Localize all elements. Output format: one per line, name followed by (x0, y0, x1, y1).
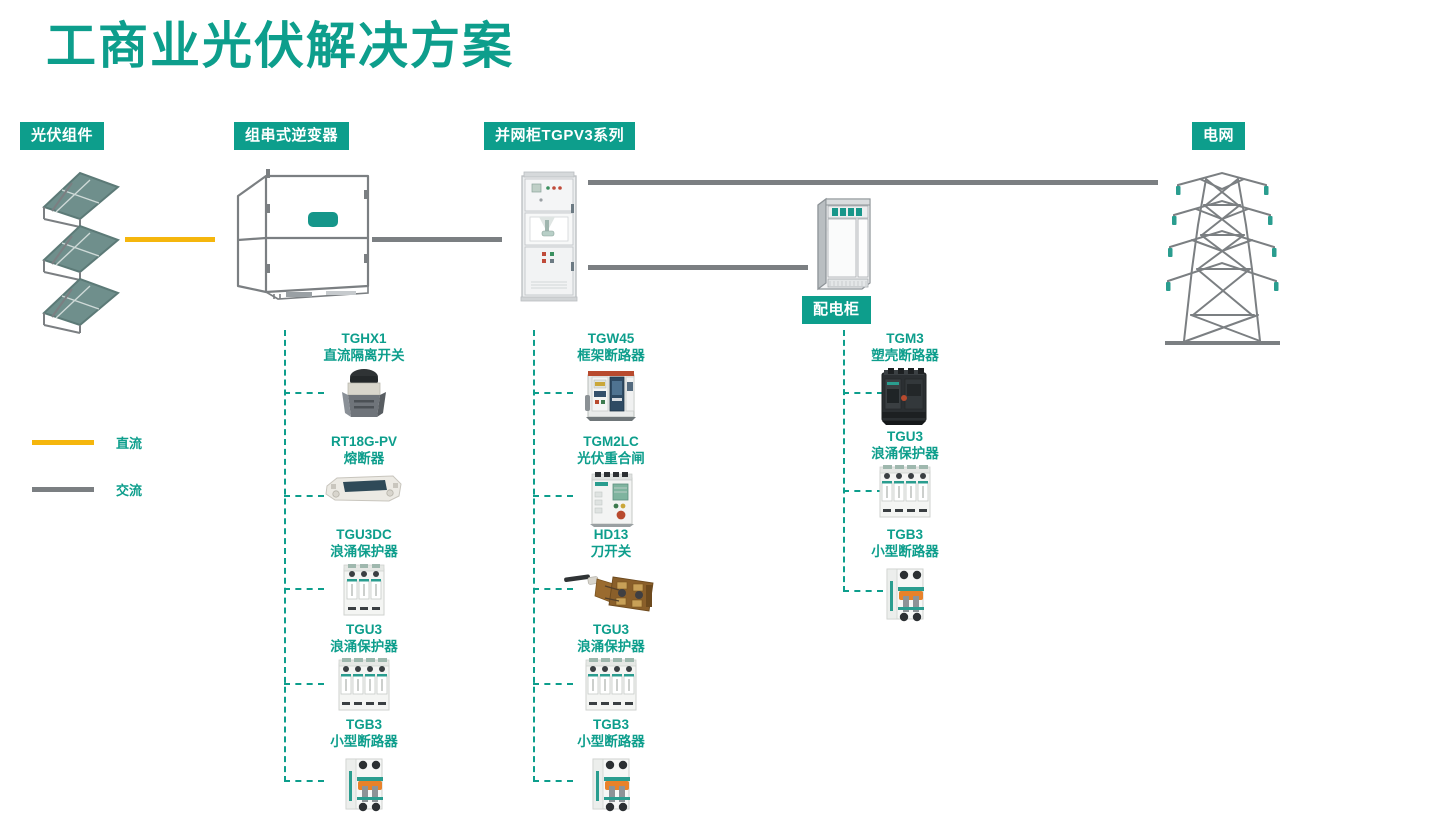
part-name: 小型断路器 (527, 733, 695, 750)
part-code: TGM3 (821, 330, 989, 347)
part-code: TGW45 (527, 330, 695, 347)
branch-inverter-parts: TGHX1 直流隔离开关 RT18G-PV 熔断器 (284, 330, 474, 820)
part-item[interactable]: HD13 刀开关 (527, 526, 695, 617)
part-name: 熔断器 (280, 450, 448, 467)
surge-protector-4p-icon (280, 658, 448, 714)
air-circuit-breaker-icon (527, 367, 695, 423)
part-name: 小型断路器 (280, 733, 448, 750)
part-code: HD13 (527, 526, 695, 543)
part-item[interactable]: TGB3 小型断路器 (280, 716, 448, 815)
part-item[interactable]: TGHX1 直流隔离开关 (280, 330, 448, 423)
moulded-case-circuit-breaker-icon (821, 367, 989, 427)
part-code: TGU3 (527, 621, 695, 638)
page-title: 工商业光伏解决方案 (46, 18, 514, 76)
part-code: TGU3 (280, 621, 448, 638)
fuse-holder-icon (280, 470, 448, 504)
part-name: 小型断路器 (821, 543, 989, 560)
auto-recloser-icon (527, 470, 695, 528)
part-name: 塑壳断路器 (821, 347, 989, 364)
grid-connection-cabinet-icon (521, 170, 577, 302)
part-item[interactable]: RT18G-PV 熔断器 (280, 433, 448, 504)
stage-chip-pv-modules: 光伏组件 (20, 122, 104, 150)
legend-item-dc: 直流 (32, 433, 142, 452)
part-name: 框架断路器 (527, 347, 695, 364)
branch-distribution-cabinet-parts: TGM3 塑壳断路器 (843, 330, 1033, 630)
part-name: 浪涌保护器 (821, 445, 989, 462)
dc-isolator-switch-icon (280, 367, 448, 423)
branch-grid-cabinet-parts: TGW45 框架断路器 (533, 330, 723, 820)
stage-chip-distribution-cabinet: 配电柜 (802, 296, 871, 324)
part-item[interactable]: TGM2LC 光伏重合闸 (527, 433, 695, 528)
part-item[interactable]: TGB3 小型断路器 (527, 716, 695, 815)
part-item[interactable]: TGU3 浪涌保护器 (527, 621, 695, 714)
ac-flow-line-grid-cabinet-to-distribution (588, 265, 808, 270)
legend-swatch-ac-icon (32, 487, 94, 492)
part-name: 刀开关 (527, 543, 695, 560)
part-code: TGU3 (821, 428, 989, 445)
diagram-canvas: 工商业光伏解决方案 光伏组件 组串式逆变器 并网柜TGPV3系列 配电柜 电网 … (0, 0, 1436, 829)
string-inverter-icon (230, 168, 375, 303)
part-item[interactable]: TGM3 塑壳断路器 (821, 330, 989, 427)
part-name: 光伏重合闸 (527, 450, 695, 467)
miniature-circuit-breaker-icon (280, 753, 448, 815)
part-item[interactable]: TGU3 浪涌保护器 (280, 621, 448, 714)
part-name: 直流隔离开关 (280, 347, 448, 364)
legend-label-dc: 直流 (116, 433, 142, 452)
part-name: 浪涌保护器 (527, 638, 695, 655)
part-code: TGB3 (280, 716, 448, 733)
surge-protector-3p-icon (280, 563, 448, 619)
stage-chip-power-grid: 电网 (1192, 122, 1245, 150)
part-code: TGB3 (821, 526, 989, 543)
part-item[interactable]: TGW45 框架断路器 (527, 330, 695, 423)
part-code: TGB3 (527, 716, 695, 733)
surge-protector-4p-icon (821, 465, 989, 521)
ac-flow-line-inverter-to-grid-cabinet (372, 237, 502, 242)
part-name: 浪涌保护器 (280, 638, 448, 655)
part-item[interactable]: TGB3 小型断路器 (821, 526, 989, 625)
part-code: RT18G-PV (280, 433, 448, 450)
legend-item-ac: 交流 (32, 480, 142, 499)
distribution-cabinet-icon (812, 197, 872, 292)
part-item[interactable]: TGU3DC 浪涌保护器 (280, 526, 448, 619)
miniature-circuit-breaker-icon (527, 753, 695, 815)
ac-flow-line-grid-cabinet-to-grid (588, 180, 1158, 185)
part-name: 浪涌保护器 (280, 543, 448, 560)
part-code: TGU3DC (280, 526, 448, 543)
stage-chip-grid-cabinet: 并网柜TGPV3系列 (484, 122, 635, 150)
legend-swatch-dc-icon (32, 440, 94, 445)
legend-label-ac: 交流 (116, 480, 142, 499)
solar-panel-array-icon (22, 165, 122, 325)
knife-switch-icon (527, 563, 695, 617)
miniature-circuit-breaker-icon (821, 563, 989, 625)
part-code: TGM2LC (527, 433, 695, 450)
surge-protector-4p-icon (527, 658, 695, 714)
transmission-tower-icon (1160, 165, 1285, 360)
part-item[interactable]: TGU3 浪涌保护器 (821, 428, 989, 521)
part-code: TGHX1 (280, 330, 448, 347)
dc-flow-line-pv-to-inverter (125, 237, 215, 242)
stage-chip-string-inverter: 组串式逆变器 (234, 122, 349, 150)
